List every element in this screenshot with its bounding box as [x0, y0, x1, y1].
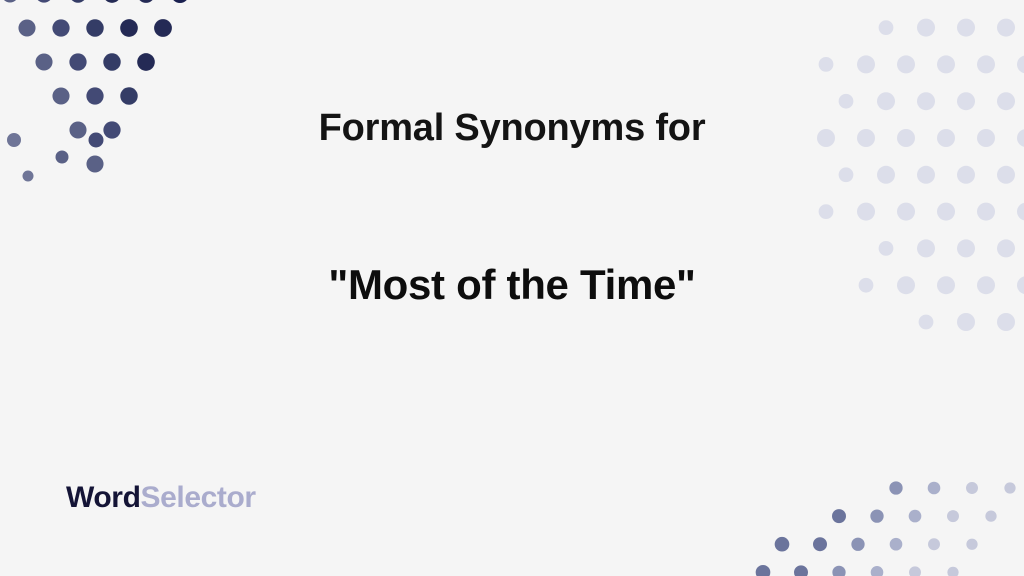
- brand-logo[interactable]: WordSelector: [66, 479, 256, 517]
- poster-canvas: Formal Synonyms for "Most of the Time" W…: [0, 0, 1024, 576]
- bottom-right-dot-triangle-icon: [737, 481, 1016, 576]
- page-subtitle: "Most of the Time": [0, 258, 1024, 312]
- brand-logo-secondary: Selector: [141, 481, 256, 514]
- top-left-dot-triangle-icon: [1, 0, 189, 182]
- brand-logo-primary: Word: [66, 481, 141, 514]
- page-title: Formal Synonyms for: [0, 104, 1024, 152]
